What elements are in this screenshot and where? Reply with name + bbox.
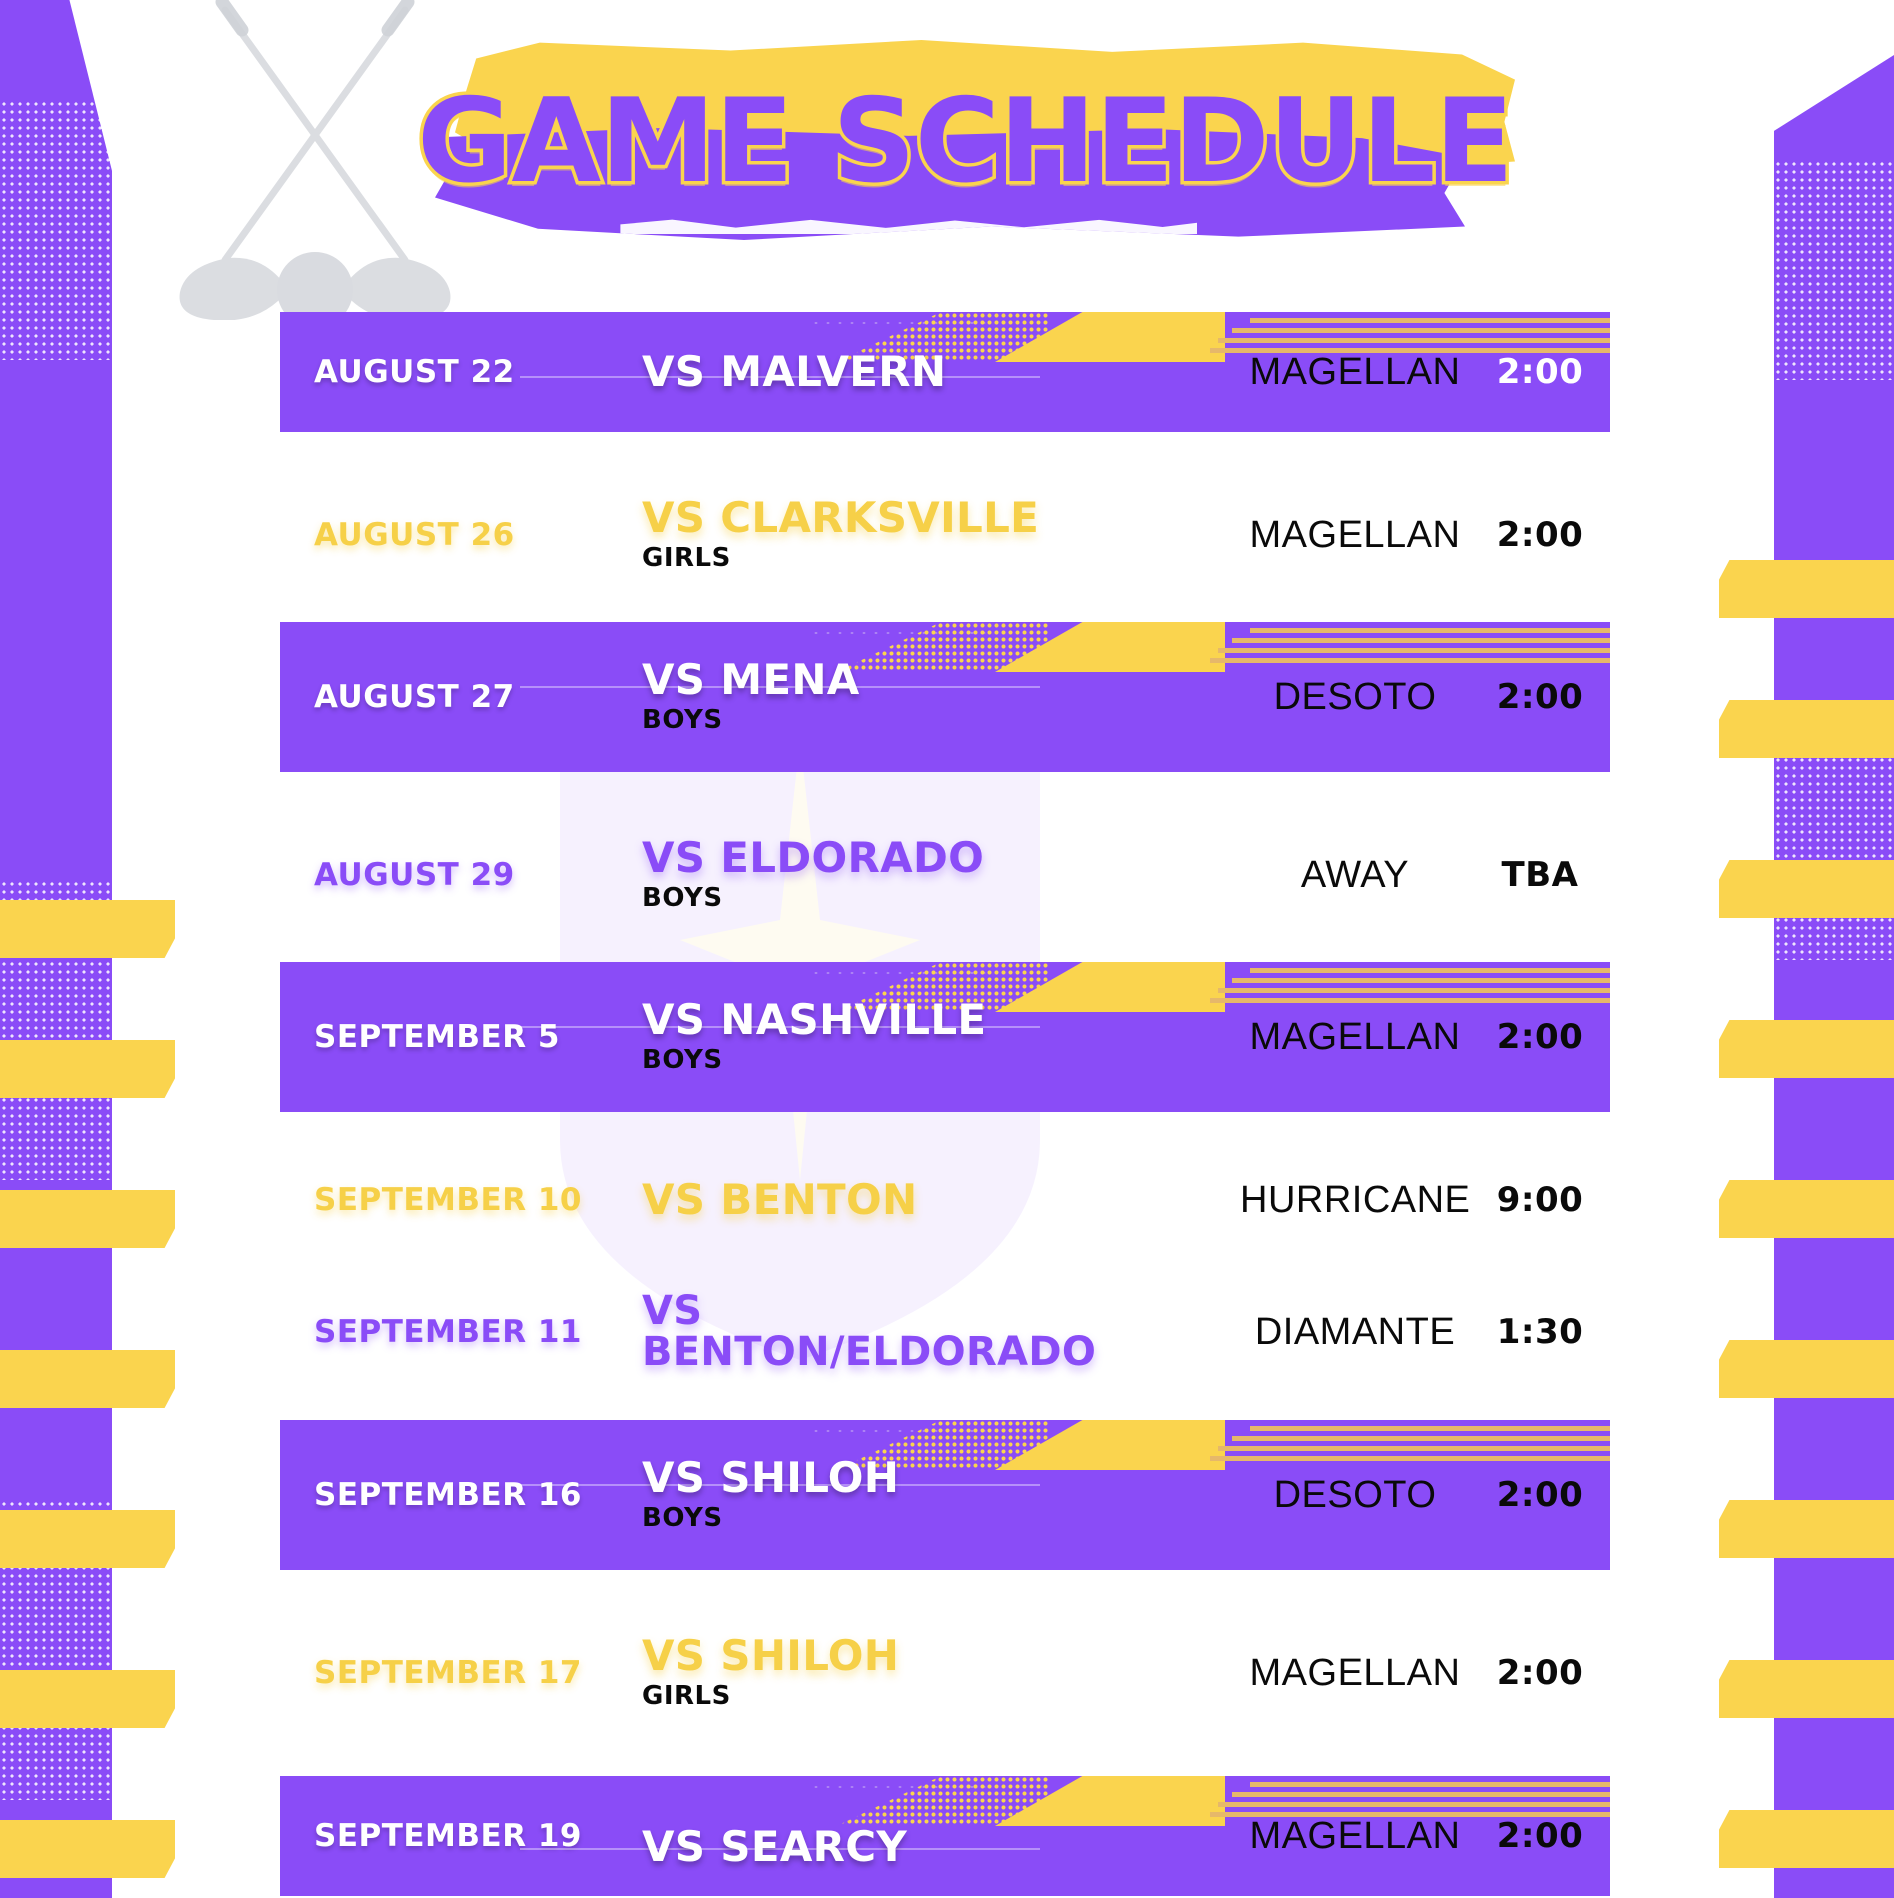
table-row[interactable]: AUGUST 27 VS MENA BOYS DESOTO 2:00 (280, 622, 1610, 772)
right-stripe-4 (1719, 1020, 1894, 1078)
row-opponent: VS MENA (642, 659, 1240, 702)
table-row[interactable]: SEPTEMBER 10 VS BENTON HURRICANE 9:00 (280, 1140, 1610, 1260)
row-time: 9:00 (1470, 1180, 1610, 1220)
row-time: 2:00 (1470, 352, 1610, 392)
page-title: GAME SCHEDULE (395, 74, 1535, 209)
row-time: 2:00 (1470, 1475, 1610, 1515)
row-date: SEPTEMBER 5 (314, 1019, 620, 1055)
row-date: SEPTEMBER 17 (314, 1655, 620, 1691)
table-row[interactable]: AUGUST 29 VS ELDORADO BOYS AWAY TBA (280, 800, 1610, 950)
row-gender: BOYS (642, 1045, 1240, 1075)
right-stripe-6 (1719, 1340, 1894, 1398)
row-opponent: VS SHILOH (642, 1635, 1240, 1678)
left-stripe-2 (0, 1040, 175, 1098)
right-stripe-8 (1719, 1660, 1894, 1718)
left-stripe-5 (0, 1510, 175, 1568)
row-venue: MAGELLAN (1240, 351, 1470, 394)
title-banner: GAME SCHEDULE (395, 18, 1535, 266)
schedule-list: AUGUST 22 VS MALVERN MAGELLAN 2:00 AUGUS… (280, 312, 1610, 1898)
row-opponent: VS CLARKSVILLE (642, 497, 1240, 540)
row-date: SEPTEMBER 10 (314, 1182, 620, 1218)
left-stripe-6 (0, 1670, 175, 1728)
table-row[interactable]: SEPTEMBER 11 VS BENTON/ELDORADO DIAMANTE… (280, 1272, 1610, 1392)
row-opponent: VS SHILOH (642, 1457, 1240, 1500)
row-time: 2:00 (1470, 515, 1610, 555)
row-opponent: VS SEARCY (642, 1826, 1240, 1869)
row-venue: MAGELLAN (1240, 514, 1470, 557)
row-time: TBA (1470, 855, 1610, 895)
game-schedule-poster: GAME SCHEDULE AUGUST 22 VS MALVERN MAGEL… (0, 0, 1894, 1898)
row-gender: GIRLS (642, 1681, 1240, 1711)
table-row[interactable]: AUGUST 26 VS CLARKSVILLE GIRLS MAGELLAN … (280, 460, 1610, 610)
left-stripe-3 (0, 1190, 175, 1248)
left-dot-texture-1 (0, 100, 112, 360)
table-row[interactable]: SEPTEMBER 19 VS SEARCY MAGELLAN 2:00 (280, 1776, 1610, 1896)
row-gender: BOYS (642, 705, 1240, 735)
row-date: AUGUST 29 (314, 857, 620, 893)
table-row[interactable]: SEPTEMBER 5 VS NASHVILLE BOYS MAGELLAN 2… (280, 962, 1610, 1112)
row-opponent: VS MALVERN (642, 351, 1240, 394)
right-stripe-2 (1719, 700, 1894, 758)
right-dot-texture-1 (1774, 160, 1894, 380)
row-opponent: VS ELDORADO (642, 837, 1240, 880)
right-stripe-7 (1719, 1500, 1894, 1558)
row-venue: AWAY (1240, 854, 1470, 897)
row-opponent: VS BENTON (642, 1179, 1240, 1222)
row-date: AUGUST 27 (314, 679, 620, 715)
row-time: 2:00 (1470, 677, 1610, 717)
golf-ball-icon (277, 252, 353, 320)
row-opponent: VS BENTON/ELDORADO (642, 1291, 1112, 1373)
row-gender: BOYS (642, 1503, 1240, 1533)
table-row[interactable]: SEPTEMBER 17 VS SHILOH GIRLS MAGELLAN 2:… (280, 1598, 1610, 1748)
left-stripe-1 (0, 900, 175, 958)
row-venue: DESOTO (1240, 676, 1470, 719)
right-stripe-3 (1719, 860, 1894, 918)
row-venue: MAGELLAN (1240, 1652, 1470, 1695)
row-time: 2:00 (1470, 1017, 1610, 1057)
left-decorative-edge (0, 0, 175, 1898)
row-date: AUGUST 22 (314, 354, 620, 390)
right-stripe-1 (1719, 560, 1894, 618)
row-gender: BOYS (642, 883, 1240, 913)
left-stripe-4 (0, 1350, 175, 1408)
right-stripe-9 (1719, 1810, 1894, 1868)
row-date: SEPTEMBER 11 (314, 1314, 620, 1350)
table-row[interactable]: AUGUST 22 VS MALVERN MAGELLAN 2:00 (280, 312, 1610, 432)
row-date: SEPTEMBER 16 (314, 1477, 620, 1513)
table-row[interactable]: SEPTEMBER 16 VS SHILOH BOYS DESOTO 2:00 (280, 1420, 1610, 1570)
right-stripe-5 (1719, 1180, 1894, 1238)
row-venue: MAGELLAN (1240, 1016, 1470, 1059)
row-gender: GIRLS (642, 543, 1240, 573)
row-time: 2:00 (1470, 1653, 1610, 1693)
row-date: AUGUST 26 (314, 517, 620, 553)
row-venue: DESOTO (1240, 1474, 1470, 1517)
row-opponent: VS NASHVILLE (642, 999, 1240, 1042)
row-venue: HURRICANE (1240, 1179, 1470, 1222)
row-venue: DIAMANTE (1240, 1311, 1470, 1354)
row-time: 1:30 (1470, 1312, 1610, 1352)
right-decorative-edge (1719, 0, 1894, 1898)
row-time: 2:00 (1470, 1816, 1610, 1856)
left-stripe-7 (0, 1820, 175, 1878)
row-venue: MAGELLAN (1240, 1815, 1470, 1858)
